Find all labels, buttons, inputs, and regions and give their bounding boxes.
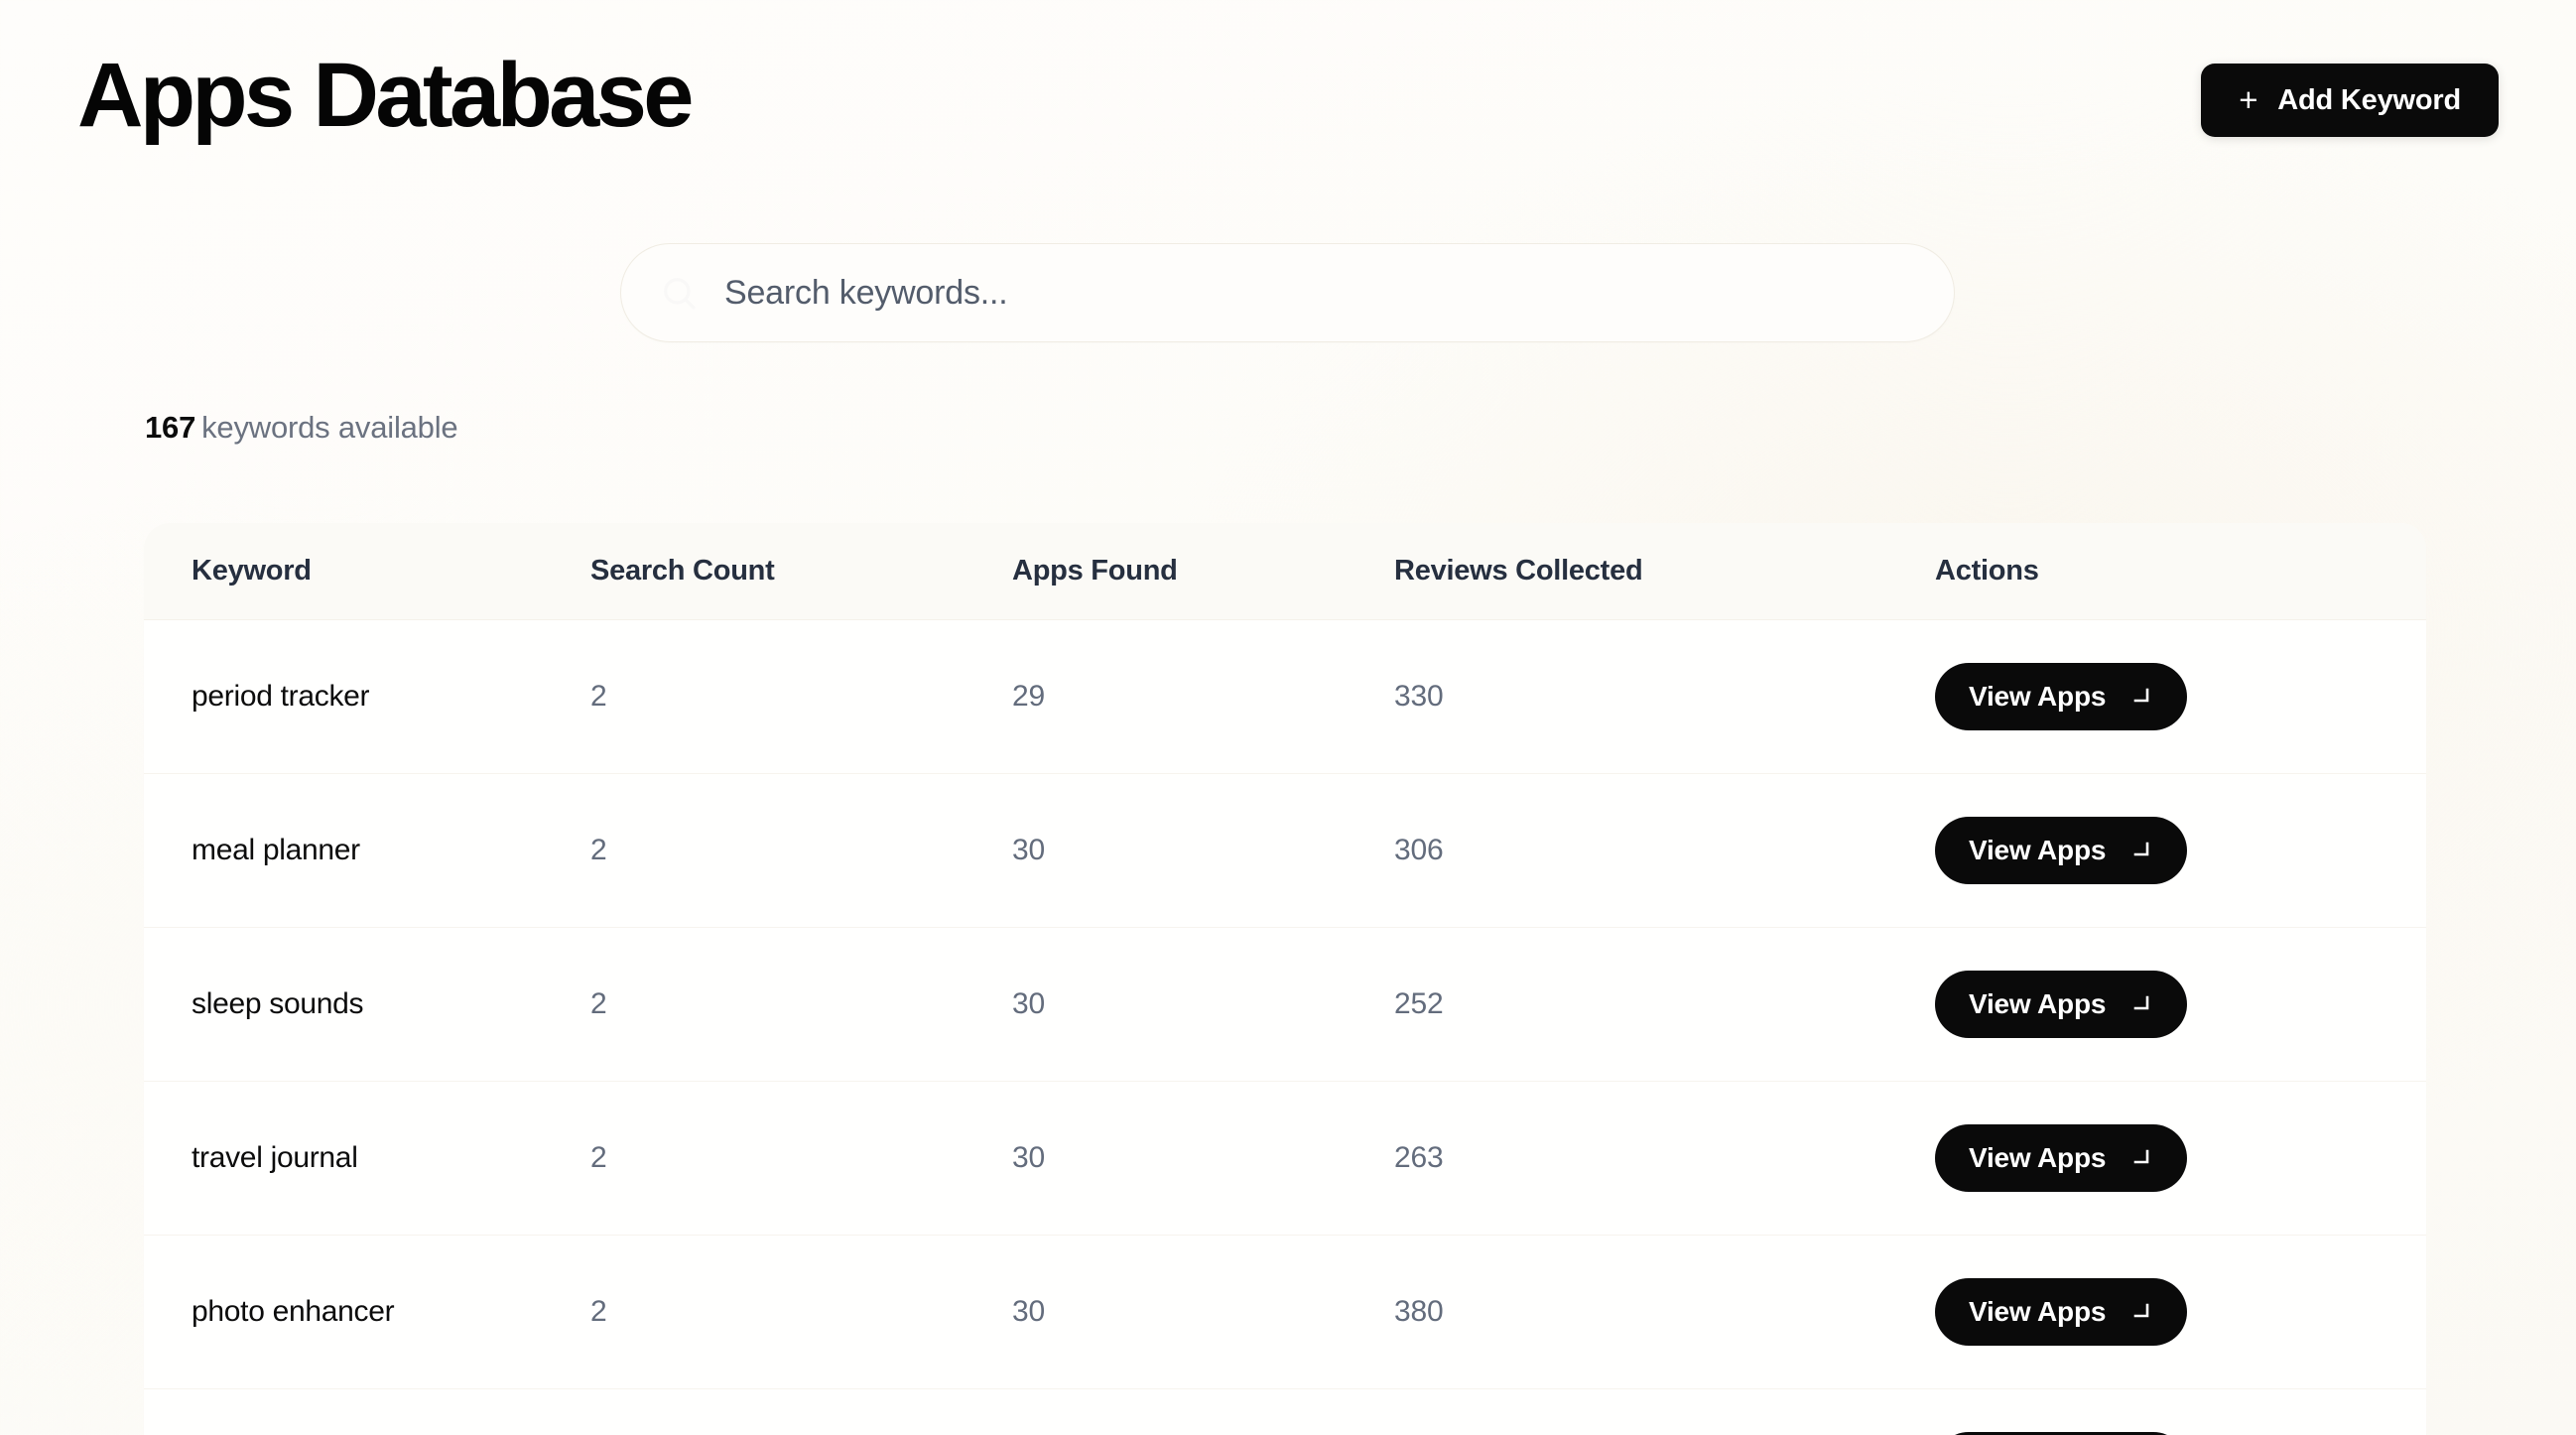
search-icon <box>657 271 701 315</box>
cell-apps-found: 30 <box>1012 1141 1394 1175</box>
table-body: period tracker229330View Appsmeal planne… <box>144 620 2426 1435</box>
enter-arrow-icon <box>2127 838 2153 863</box>
app-root: Apps Database + Add Keyword 167keywords … <box>0 0 2576 1435</box>
keywords-table: Keyword Search Count Apps Found Reviews … <box>144 523 2426 1435</box>
enter-arrow-icon <box>2127 991 2153 1017</box>
table-row: sleep sounds230252View Apps <box>144 928 2426 1082</box>
view-apps-label: View Apps <box>1969 835 2106 866</box>
view-apps-label: View Apps <box>1969 1296 2106 1328</box>
column-header-keyword: Keyword <box>144 555 590 587</box>
cell-reviews-collected: 306 <box>1394 834 1935 867</box>
cell-reviews-collected: 263 <box>1394 1141 1935 1175</box>
cell-actions: View Apps <box>1935 817 2426 884</box>
search-box[interactable] <box>620 243 1955 342</box>
view-apps-button[interactable]: View Apps <box>1935 1278 2187 1346</box>
add-keyword-button[interactable]: + Add Keyword <box>2201 64 2499 137</box>
enter-arrow-icon <box>2127 1299 2153 1325</box>
page-header: Apps Database + Add Keyword <box>0 0 2576 189</box>
column-header-apps-found: Apps Found <box>1012 555 1394 587</box>
column-header-reviews-collected: Reviews Collected <box>1394 555 1935 587</box>
enter-arrow-icon <box>2127 1145 2153 1171</box>
view-apps-button[interactable]: View Apps <box>1935 971 2187 1038</box>
search-bar <box>620 243 1955 342</box>
view-apps-button[interactable]: View Apps <box>1935 663 2187 730</box>
view-apps-label: View Apps <box>1969 1142 2106 1174</box>
add-keyword-label: Add Keyword <box>2277 84 2461 117</box>
table-row: View Apps <box>144 1389 2426 1435</box>
page-title: Apps Database <box>77 50 691 141</box>
cell-search-count: 2 <box>590 1141 1012 1175</box>
cell-apps-found: 30 <box>1012 987 1394 1021</box>
column-header-search-count: Search Count <box>590 555 1012 587</box>
cell-keyword: period tracker <box>144 680 590 714</box>
cell-reviews-collected: 380 <box>1394 1295 1935 1329</box>
enter-arrow-icon <box>2127 684 2153 710</box>
cell-keyword: sleep sounds <box>144 987 590 1021</box>
cell-actions: View Apps <box>1935 1124 2426 1192</box>
view-apps-button[interactable]: View Apps <box>1935 817 2187 884</box>
cell-search-count: 2 <box>590 987 1012 1021</box>
table-header-row: Keyword Search Count Apps Found Reviews … <box>144 523 2426 620</box>
view-apps-label: View Apps <box>1969 681 2106 713</box>
cell-reviews-collected: 330 <box>1394 680 1935 714</box>
search-input[interactable] <box>701 244 1954 341</box>
cell-apps-found: 29 <box>1012 680 1394 714</box>
cell-actions: View Apps <box>1935 663 2426 730</box>
cell-search-count: 2 <box>590 1295 1012 1329</box>
cell-actions: View Apps <box>1935 971 2426 1038</box>
cell-search-count: 2 <box>590 680 1012 714</box>
table-row: meal planner230306View Apps <box>144 774 2426 928</box>
table-row: travel journal230263View Apps <box>144 1082 2426 1236</box>
keyword-count-summary: 167keywords available <box>145 410 457 446</box>
column-header-actions: Actions <box>1935 555 2426 587</box>
cell-reviews-collected: 252 <box>1394 987 1935 1021</box>
cell-actions: View Apps <box>1935 1278 2426 1346</box>
cell-apps-found: 30 <box>1012 834 1394 867</box>
cell-keyword: photo enhancer <box>144 1295 590 1329</box>
view-apps-button[interactable]: View Apps <box>1935 1124 2187 1192</box>
plus-icon: + <box>2239 83 2257 116</box>
view-apps-label: View Apps <box>1969 988 2106 1020</box>
table-row: period tracker229330View Apps <box>144 620 2426 774</box>
cell-search-count: 2 <box>590 834 1012 867</box>
table-row: photo enhancer230380View Apps <box>144 1236 2426 1389</box>
keyword-count-label: keywords available <box>201 410 457 445</box>
cell-keyword: travel journal <box>144 1141 590 1175</box>
keyword-count-number: 167 <box>145 410 195 445</box>
cell-apps-found: 30 <box>1012 1295 1394 1329</box>
cell-keyword: meal planner <box>144 834 590 867</box>
